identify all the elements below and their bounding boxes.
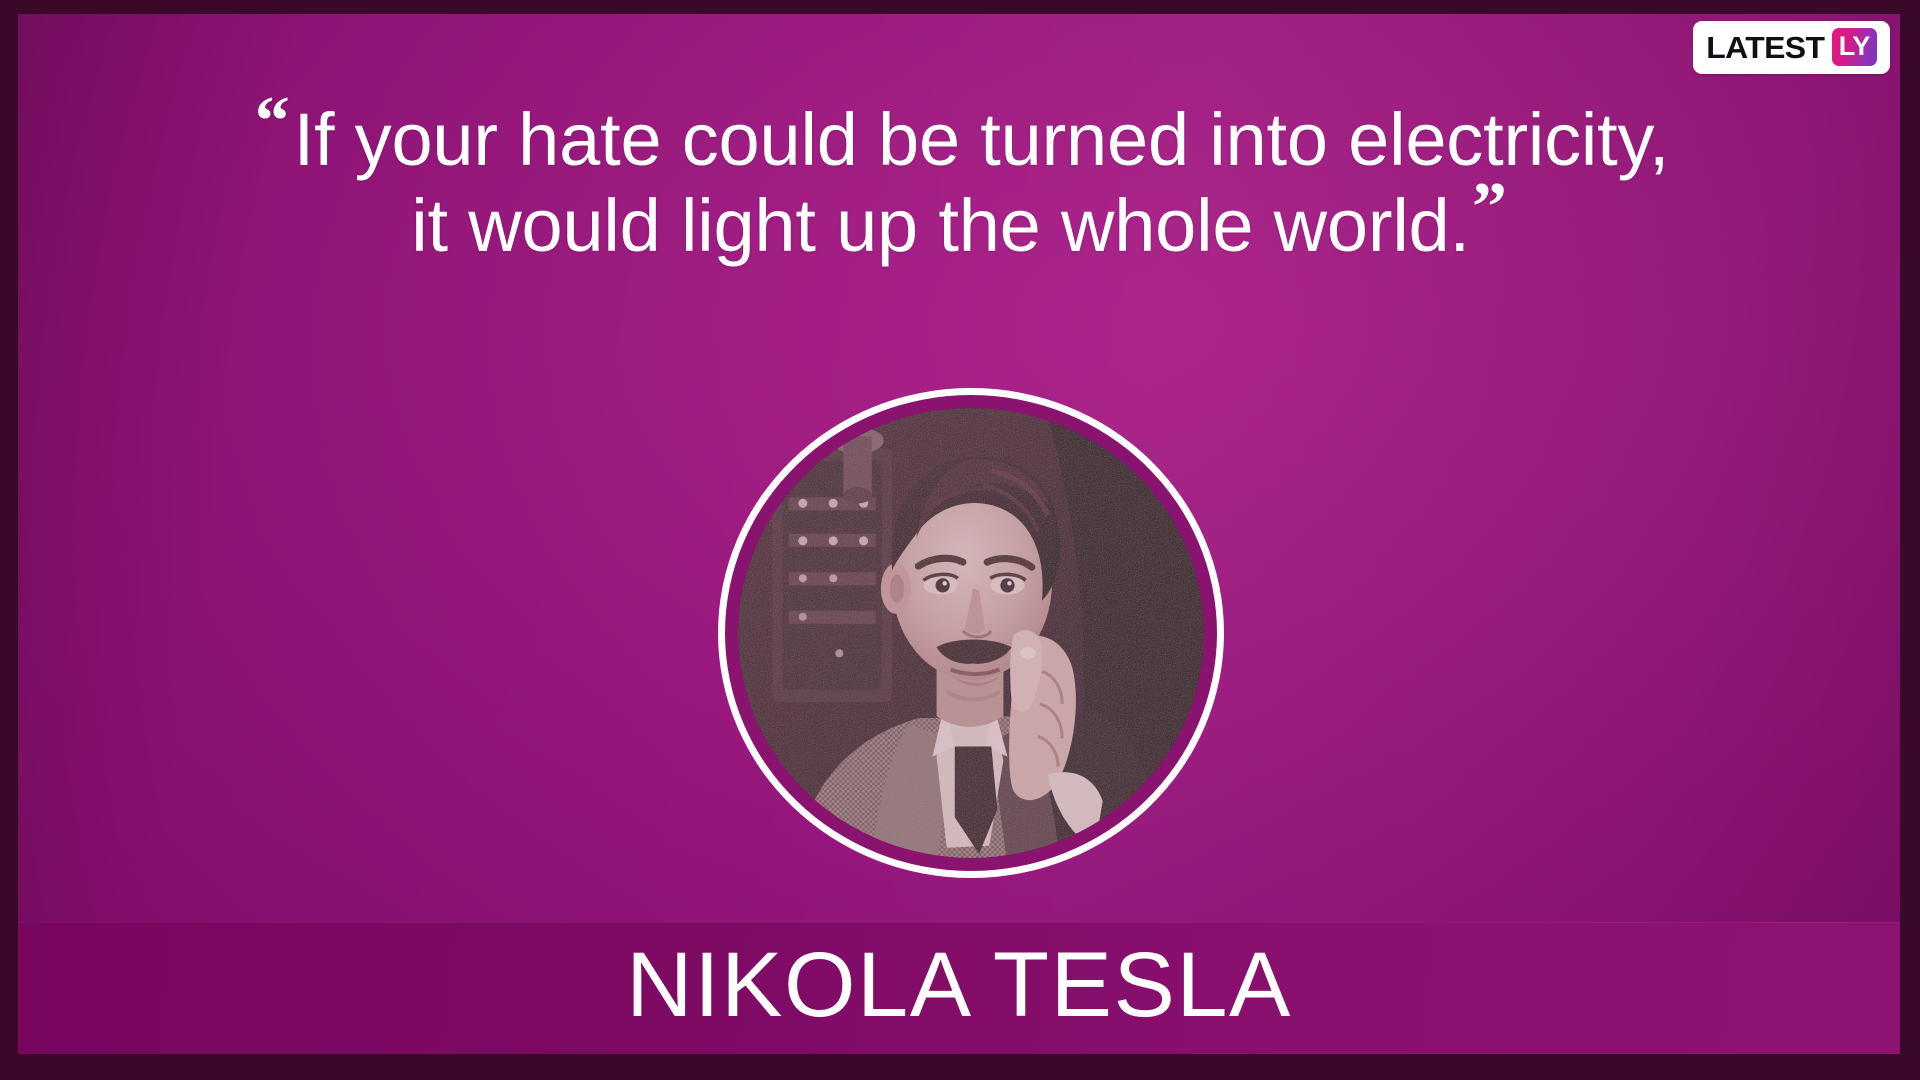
- card-background: LATEST LY “If your hate could be turned …: [18, 14, 1900, 1054]
- attribution-banner: NIKOLA TESLA: [18, 922, 1900, 1054]
- portrait: [718, 388, 1224, 878]
- quote-line-2: it would light up the whole world.”: [128, 184, 1790, 268]
- portrait-outer-ring: [718, 388, 1224, 878]
- latestly-logo[interactable]: LATEST LY: [1693, 21, 1890, 74]
- logo-ly-badge: LY: [1832, 28, 1877, 66]
- quote-text-line-2: it would light up the whole world.: [411, 184, 1470, 267]
- quote-line-1: “If your hate could be turned into elect…: [128, 98, 1790, 182]
- quote-text-line-1: If your hate could be turned into electr…: [294, 98, 1670, 181]
- logo-wordmark: LATEST: [1706, 32, 1824, 63]
- quote-card: LATEST LY “If your hate could be turned …: [0, 0, 1920, 1080]
- quote-block: “If your hate could be turned into elect…: [18, 98, 1900, 269]
- author-name: NIKOLA TESLA: [626, 939, 1292, 1031]
